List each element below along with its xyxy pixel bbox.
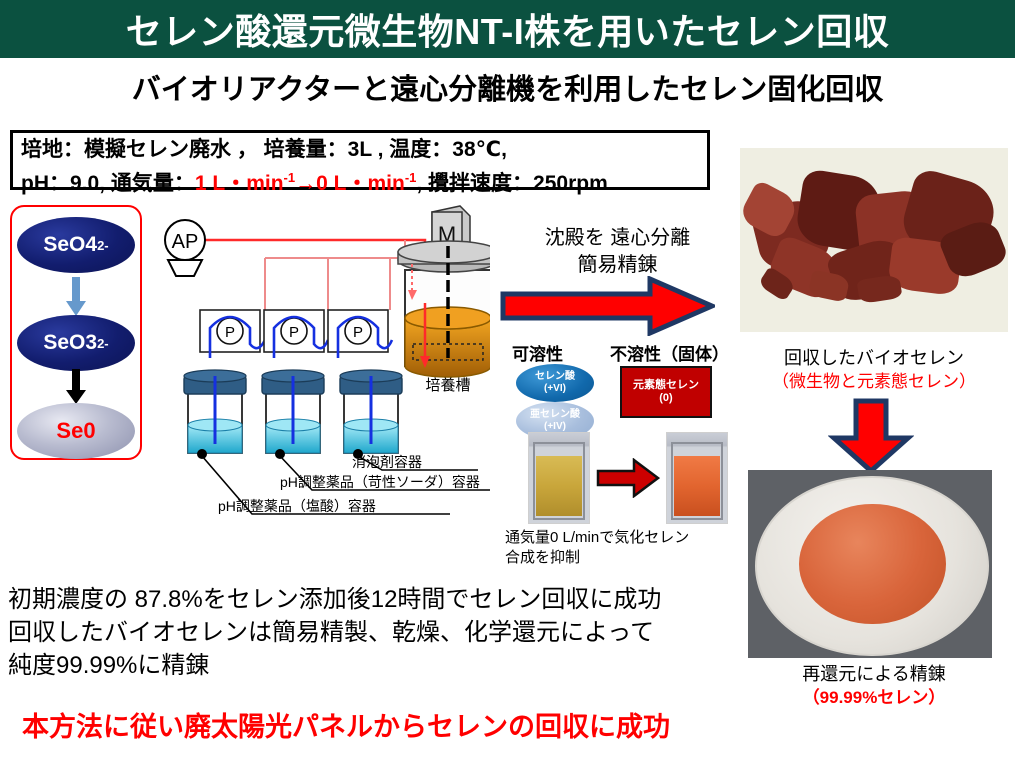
soluble-item-selenate-state: (+VI) — [544, 383, 566, 395]
svg-text:P: P — [289, 324, 299, 341]
bioselenium-caption-sub: （微生物と元素態セレン） — [738, 370, 1010, 394]
results-line-3: 純度99.99%に精錬 — [8, 649, 753, 682]
vessel-pair-caption: 通気量0 L/minで気化セレン 合成を抑制 — [505, 528, 735, 568]
vessel-comparison-photos — [528, 432, 728, 524]
refining-down-arrow-icon — [828, 398, 914, 474]
bioreactor-schematic: AP M — [160, 198, 490, 528]
pathway-node-selenate: SeO42- — [17, 217, 135, 273]
pathway-node-elemental-charge: 0 — [83, 418, 95, 444]
powder-caption: 再還元による精錬 （99.99%セレン） — [738, 662, 1010, 710]
bottle-label-antifoam: 消泡剤容器 — [352, 452, 422, 472]
soluble-item-selenate-name: セレン酸 — [535, 371, 575, 383]
process-line-2: 簡易精錬 — [505, 252, 730, 279]
pathway-node-selenite: SeO32- — [17, 315, 135, 371]
insoluble-item-name: 元素態セレン — [633, 379, 699, 392]
soluble-header: 可溶性 — [512, 340, 563, 365]
soluble-item-selenate: セレン酸 (+VI) — [516, 364, 594, 402]
vessel-photo-after — [666, 432, 728, 524]
pump-unit-3: P — [328, 310, 392, 358]
bioselenium-caption-main: 回収したバイオセレン — [738, 346, 1010, 370]
results-line-1: 初期濃度の 87.8%をセレン添加後12時間でセレン回収に成功 — [8, 583, 753, 616]
powder-purity-value: 99.99% — [820, 688, 878, 707]
svg-text:P: P — [353, 324, 363, 341]
aeration-start-exponent: -1 — [284, 170, 296, 185]
powder-caption-main: 再還元による精錬 — [738, 662, 1010, 686]
air-pump-icon: AP — [165, 220, 205, 276]
pump-unit-2: P — [264, 310, 328, 358]
vessel-label: 培養槽 — [425, 377, 470, 394]
vessel-caption-line-2: 合成を抑制 — [505, 548, 735, 568]
bioselenium-caption: 回収したバイオセレン （微生物と元素態セレン） — [738, 346, 1010, 394]
vessel-transition-arrow-icon — [596, 458, 660, 498]
fermenter-vessel-icon — [398, 241, 490, 377]
powder-paren-close: ） — [928, 688, 945, 707]
slide-subtitle: バイオリアクターと遠心分離機を利用したセレン固化回収 — [0, 66, 1015, 108]
conditions-line-2: pH：9.0, 通気量：1 L・min-1→0 L・min-1, 攪拌速度：25… — [21, 164, 699, 198]
pathway-node-selenite-charge: 2- — [97, 336, 109, 351]
svg-text:AP: AP — [172, 231, 199, 253]
svg-text:P: P — [225, 324, 235, 341]
aeration-end-value: 0 L・min — [316, 172, 405, 195]
photo-recovered-bioselenium — [740, 148, 1008, 332]
page-title: セレン酸還元微生物NT-I株を用いたセレン回収 — [126, 3, 890, 55]
pathway-arrow-blue-icon — [65, 277, 87, 317]
pathway-node-selenite-label: SeO3 — [43, 331, 97, 355]
conditions-ph-text: pH：9.0, 通気量： — [21, 172, 195, 195]
conditions-medium-text: 培地：模擬セレン廃水 ， 培養量：3L , 温度：38℃, — [21, 138, 507, 161]
selenium-powder-disc — [799, 504, 945, 624]
pathway-node-elemental-label: Se — [56, 418, 83, 444]
vessel-frame-right — [671, 442, 724, 520]
pump-unit-1: P — [200, 310, 265, 358]
process-line-1: 沈殿を 遠心分離 — [505, 225, 730, 252]
pathway-node-elemental-selenium: Se0 — [17, 403, 135, 459]
bottle-label-hcl: pH調整薬品（塩酸）容器 — [218, 496, 376, 516]
photo-refined-selenium-powder — [748, 470, 992, 658]
conditions-line-1: 培地：模擬セレン廃水 ， 培養量：3L , 温度：38℃, — [21, 136, 699, 164]
aeration-arrow: → — [295, 172, 316, 195]
solubility-classification: 可溶性 不溶性（固体） セレン酸 (+VI) 亜セレン酸 (+IV) 元素態セレ… — [500, 340, 735, 445]
vessel-caption-line-1: 通気量0 L/minで気化セレン — [505, 528, 735, 548]
centrifuge-process-text: 沈殿を 遠心分離 簡易精錬 — [505, 225, 730, 279]
air-line-tube — [200, 240, 425, 303]
vessel-frame-left — [533, 442, 586, 520]
insoluble-item-elemental-selenium: 元素態セレン (0) — [620, 366, 712, 418]
insoluble-header: 不溶性（固体） — [610, 340, 729, 365]
reagent-bottle-3 — [340, 370, 402, 459]
pathway-node-selenate-charge: 2- — [97, 238, 109, 253]
pathway-arrow-black-icon — [65, 369, 87, 405]
conditions-stirring-text: , 攪拌速度：250rpm — [416, 172, 607, 195]
reagent-bottle-1 — [184, 370, 246, 459]
aeration-end-exponent: -1 — [405, 170, 417, 185]
pathway-node-selenate-label: SeO4 — [43, 233, 97, 257]
results-line-2: 回収したバイオセレンは簡易精製、乾燥、化学還元によって — [8, 616, 753, 649]
process-right-arrow-icon — [500, 276, 715, 336]
powder-purity-unit: セレン — [877, 688, 928, 707]
bottle-label-naoh: pH調整薬品（苛性ソーダ）容器 — [280, 472, 480, 492]
insoluble-item-state: (0) — [659, 392, 672, 405]
vessel-photo-before — [528, 432, 590, 524]
experiment-conditions-box: 培地：模擬セレン廃水 ， 培養量：3L , 温度：38℃, pH：9.0, 通気… — [10, 130, 710, 190]
slide-title-bar: セレン酸還元微生物NT-I株を用いたセレン回収 — [0, 0, 1015, 58]
selenium-reduction-pathway-box: SeO42- SeO32- Se0 — [10, 205, 142, 460]
reagent-bottle-2 — [262, 370, 324, 459]
aeration-start-value: 1 L・min — [195, 172, 284, 195]
conclusion-text: 本方法に従い廃太陽光パネルからセレンの回収に成功 — [22, 705, 822, 744]
soluble-item-selenite-name: 亜セレン酸 — [530, 409, 580, 421]
manifold-line-1 — [265, 240, 405, 258]
results-summary: 初期濃度の 87.8%をセレン添加後12時間でセレン回収に成功 回収したバイオセ… — [8, 583, 753, 682]
